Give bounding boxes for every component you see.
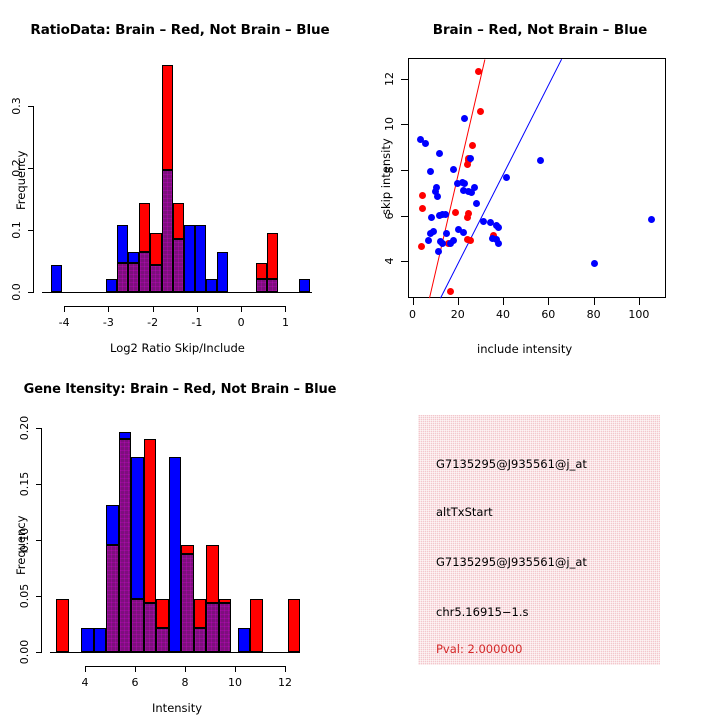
histogram-bar-red: [156, 599, 169, 628]
scatter-point: [454, 180, 461, 187]
y-axis-tick-label: 10: [383, 117, 396, 131]
x-axis-tick-label: 60: [541, 308, 555, 321]
histogram-bar-overlap: [144, 603, 157, 652]
scatter-point: [422, 140, 429, 147]
x-axis-tick-label: 0: [409, 308, 416, 321]
histogram-bar-red: [256, 263, 267, 279]
histogram-bar-overlap: [156, 628, 169, 652]
y-axis-tick: [36, 652, 42, 653]
y-axis-tick-label: 0.20: [18, 415, 31, 440]
y-axis-tick: [401, 216, 408, 217]
x-axis-tick: [503, 298, 504, 305]
x-axis-tick-label: 100: [628, 308, 649, 321]
not-brain-fit: [440, 59, 562, 298]
scatter-point: [430, 228, 437, 235]
ratio-y-axis-title: Frequency: [14, 151, 28, 210]
histogram-bar-overlap: [117, 263, 128, 292]
histogram-bar-blue: [106, 279, 117, 292]
scatter-point: [425, 237, 432, 244]
scatter-point: [461, 180, 468, 187]
histogram-bar-overlap: [181, 554, 194, 652]
x-axis-line: [64, 306, 286, 307]
histogram-bar-red: [219, 599, 232, 602]
panel-ratio-histogram: RatioData: Brain – Red, Not Brain – Blue…: [0, 0, 360, 360]
scatter-point: [428, 214, 435, 221]
info-locus: chr5.16915−1.s: [436, 605, 529, 619]
gene-plot-area: 0.000.050.100.150.204681012: [50, 422, 300, 652]
scatter-y-axis-title: skip intensity: [379, 138, 393, 215]
scatter-point: [537, 157, 544, 164]
y-axis-tick-label: 0.05: [18, 584, 31, 609]
x-axis-tick: [235, 666, 236, 672]
x-axis-tick-label: 12: [278, 676, 292, 689]
histogram-bar-overlap: [267, 279, 278, 292]
x-axis-tick: [185, 666, 186, 672]
histogram-bar-blue: [128, 252, 139, 263]
y-axis-tick: [36, 428, 42, 429]
x-axis-tick: [64, 306, 65, 312]
scatter-point: [475, 68, 482, 75]
y-axis-tick-label: 12: [383, 72, 396, 86]
x-axis-tick: [197, 306, 198, 312]
info-pval: Pval: 2.000000: [436, 642, 522, 656]
y-axis-tick-label: 0.3: [10, 97, 23, 115]
histogram-bar-red: [250, 599, 263, 652]
histogram-bar-overlap: [256, 279, 267, 292]
x-axis-tick-label: 10: [228, 676, 242, 689]
x-axis-tick: [85, 666, 86, 672]
probe-info-box: G7135295@J935561@j_at altTxStart G713529…: [418, 415, 660, 665]
x-axis-tick-label: 4: [82, 676, 89, 689]
scatter-point: [434, 193, 441, 200]
scatter-point: [461, 115, 468, 122]
panel-probe-info: G7135295@J935561@j_at altTxStart G713529…: [360, 360, 720, 720]
y-axis-tick: [401, 170, 408, 171]
x-axis-baseline: [42, 292, 312, 293]
scatter-point: [495, 240, 502, 247]
scatter-x-axis-title: include intensity: [477, 342, 572, 356]
x-axis-tick: [594, 298, 595, 305]
y-axis-tick: [28, 106, 34, 107]
histogram-bar-blue: [299, 279, 310, 292]
histogram-bar-overlap: [173, 239, 184, 292]
ratio-x-axis-title: Log2 Ratio Skip/Include: [110, 341, 245, 355]
x-axis-tick: [153, 306, 154, 312]
histogram-bar-blue: [106, 505, 119, 545]
x-axis-tick-label: 1: [282, 316, 289, 329]
y-axis-tick: [28, 168, 34, 169]
histogram-bar-blue: [119, 432, 132, 439]
x-axis-baseline: [50, 652, 300, 653]
info-event-type: altTxStart: [436, 505, 493, 519]
ratio-histogram-title: RatioData: Brain – Red, Not Brain – Blue: [0, 22, 360, 38]
scatter-point: [467, 155, 474, 162]
y-axis-tick: [36, 484, 42, 485]
x-axis-tick-label: -3: [103, 316, 114, 329]
histogram-bar-red: [144, 439, 157, 603]
scatter-point: [439, 240, 446, 247]
histogram-bar-blue: [117, 225, 128, 263]
y-axis-tick-label: 0.00: [18, 640, 31, 665]
y-axis-tick-label: 0.0: [10, 283, 23, 301]
histogram-bar-red: [194, 599, 207, 628]
histogram-bar-blue: [51, 265, 62, 292]
scatter-point: [436, 150, 443, 157]
scatter-point: [503, 174, 510, 181]
y-axis-tick: [28, 230, 34, 231]
histogram-bar-blue: [206, 279, 217, 292]
x-axis-tick: [458, 298, 459, 305]
scatter-point: [473, 200, 480, 207]
histogram-bar-overlap: [206, 603, 219, 652]
scatter-point: [447, 288, 454, 295]
y-axis-tick: [36, 596, 42, 597]
info-probeset-id-2: G7135295@J935561@j_at: [436, 555, 587, 569]
info-probeset-id: G7135295@J935561@j_at: [436, 457, 587, 471]
scatter-point: [419, 205, 426, 212]
x-axis-tick-label: 20: [451, 308, 465, 321]
histogram-bar-red: [288, 599, 301, 652]
histogram-bar-overlap: [162, 170, 173, 292]
y-axis-tick-label: 0.1: [10, 221, 23, 239]
scatter-point: [648, 216, 655, 223]
scatter-point: [452, 209, 459, 216]
x-axis-tick: [413, 298, 414, 305]
histogram-bar-red: [181, 545, 194, 554]
histogram-bar-red: [162, 65, 173, 170]
histogram-bar-blue: [184, 225, 195, 292]
x-axis-tick: [135, 666, 136, 672]
gene-y-axis-title: Frequency: [14, 516, 28, 575]
scatter-point: [495, 224, 502, 231]
panel-gene-intensity-histogram: Gene Itensity: Brain – Red, Not Brain – …: [0, 360, 360, 720]
gene-x-axis-title: Intensity: [152, 701, 202, 715]
histogram-bar-blue: [169, 457, 182, 652]
y-axis-line: [33, 106, 34, 293]
histogram-bar-red: [206, 545, 219, 602]
scatter-point: [464, 214, 471, 221]
scatter-point: [460, 229, 467, 236]
histogram-bar-red: [173, 203, 184, 238]
scatter-point: [419, 192, 426, 199]
x-axis-tick: [548, 298, 549, 305]
y-axis-tick: [401, 79, 408, 80]
histogram-bar-overlap: [194, 628, 207, 652]
scatter-point: [591, 260, 598, 267]
scatter-title: Brain – Red, Not Brain – Blue: [360, 22, 720, 38]
scatter-point: [468, 189, 475, 196]
y-axis-tick-label: 4: [383, 258, 396, 265]
x-axis-tick-label: 80: [587, 308, 601, 321]
histogram-bar-overlap: [106, 545, 119, 652]
y-axis-tick-label: 0.15: [18, 471, 31, 496]
histogram-bar-blue: [94, 628, 107, 652]
panel-intensity-scatter: Brain – Red, Not Brain – Blue 4681012020…: [360, 0, 720, 360]
x-axis-tick-label: -1: [191, 316, 202, 329]
scatter-box: [408, 58, 666, 298]
histogram-bar-overlap: [131, 599, 144, 652]
scatter-point: [442, 211, 449, 218]
scatter-point: [418, 243, 425, 250]
x-axis-tick-label: 6: [132, 676, 139, 689]
histogram-bar-overlap: [128, 263, 139, 292]
y-axis-tick: [401, 124, 408, 125]
x-axis-tick-label: -2: [147, 316, 158, 329]
histogram-bar-blue: [81, 628, 94, 652]
scatter-point: [469, 142, 476, 149]
x-axis-tick-label: 8: [182, 676, 189, 689]
plot-page: RatioData: Brain – Red, Not Brain – Blue…: [0, 0, 720, 720]
y-axis-tick: [401, 261, 408, 262]
x-axis-tick: [108, 306, 109, 312]
histogram-bar-overlap: [150, 265, 161, 292]
histogram-bar-red: [150, 233, 161, 265]
x-axis-tick-label: 40: [496, 308, 510, 321]
x-axis-tick: [639, 298, 640, 305]
x-axis-tick-label: 0: [238, 316, 245, 329]
x-axis-tick-label: -4: [59, 316, 70, 329]
ratio-plot-area: 0.00.10.20.3-4-3-2-101: [42, 62, 312, 292]
scatter-point: [467, 237, 474, 244]
y-axis-tick: [28, 292, 34, 293]
histogram-bar-red: [267, 233, 278, 279]
scatter-point: [443, 230, 450, 237]
scatter-point: [435, 248, 442, 255]
scatter-point: [477, 108, 484, 115]
histogram-bar-overlap: [219, 603, 232, 652]
histogram-bar-overlap: [139, 252, 150, 292]
scatter-point: [427, 168, 434, 175]
histogram-bar-blue: [131, 457, 144, 599]
scatter-point: [450, 166, 457, 173]
histogram-bar-blue: [195, 225, 206, 292]
gene-histogram-title: Gene Itensity: Brain – Red, Not Brain – …: [0, 382, 360, 397]
x-axis-tick: [241, 306, 242, 312]
x-axis-tick: [285, 666, 286, 672]
histogram-bar-red: [139, 203, 150, 252]
histogram-bar-red: [56, 599, 69, 652]
y-axis-tick: [36, 540, 42, 541]
histogram-bar-blue: [238, 628, 251, 652]
histogram-bar-overlap: [119, 439, 132, 652]
x-axis-tick: [285, 306, 286, 312]
scatter-point: [450, 237, 457, 244]
histogram-bar-blue: [217, 252, 228, 292]
scatter-plot-area: 4681012020406080100: [408, 58, 666, 298]
